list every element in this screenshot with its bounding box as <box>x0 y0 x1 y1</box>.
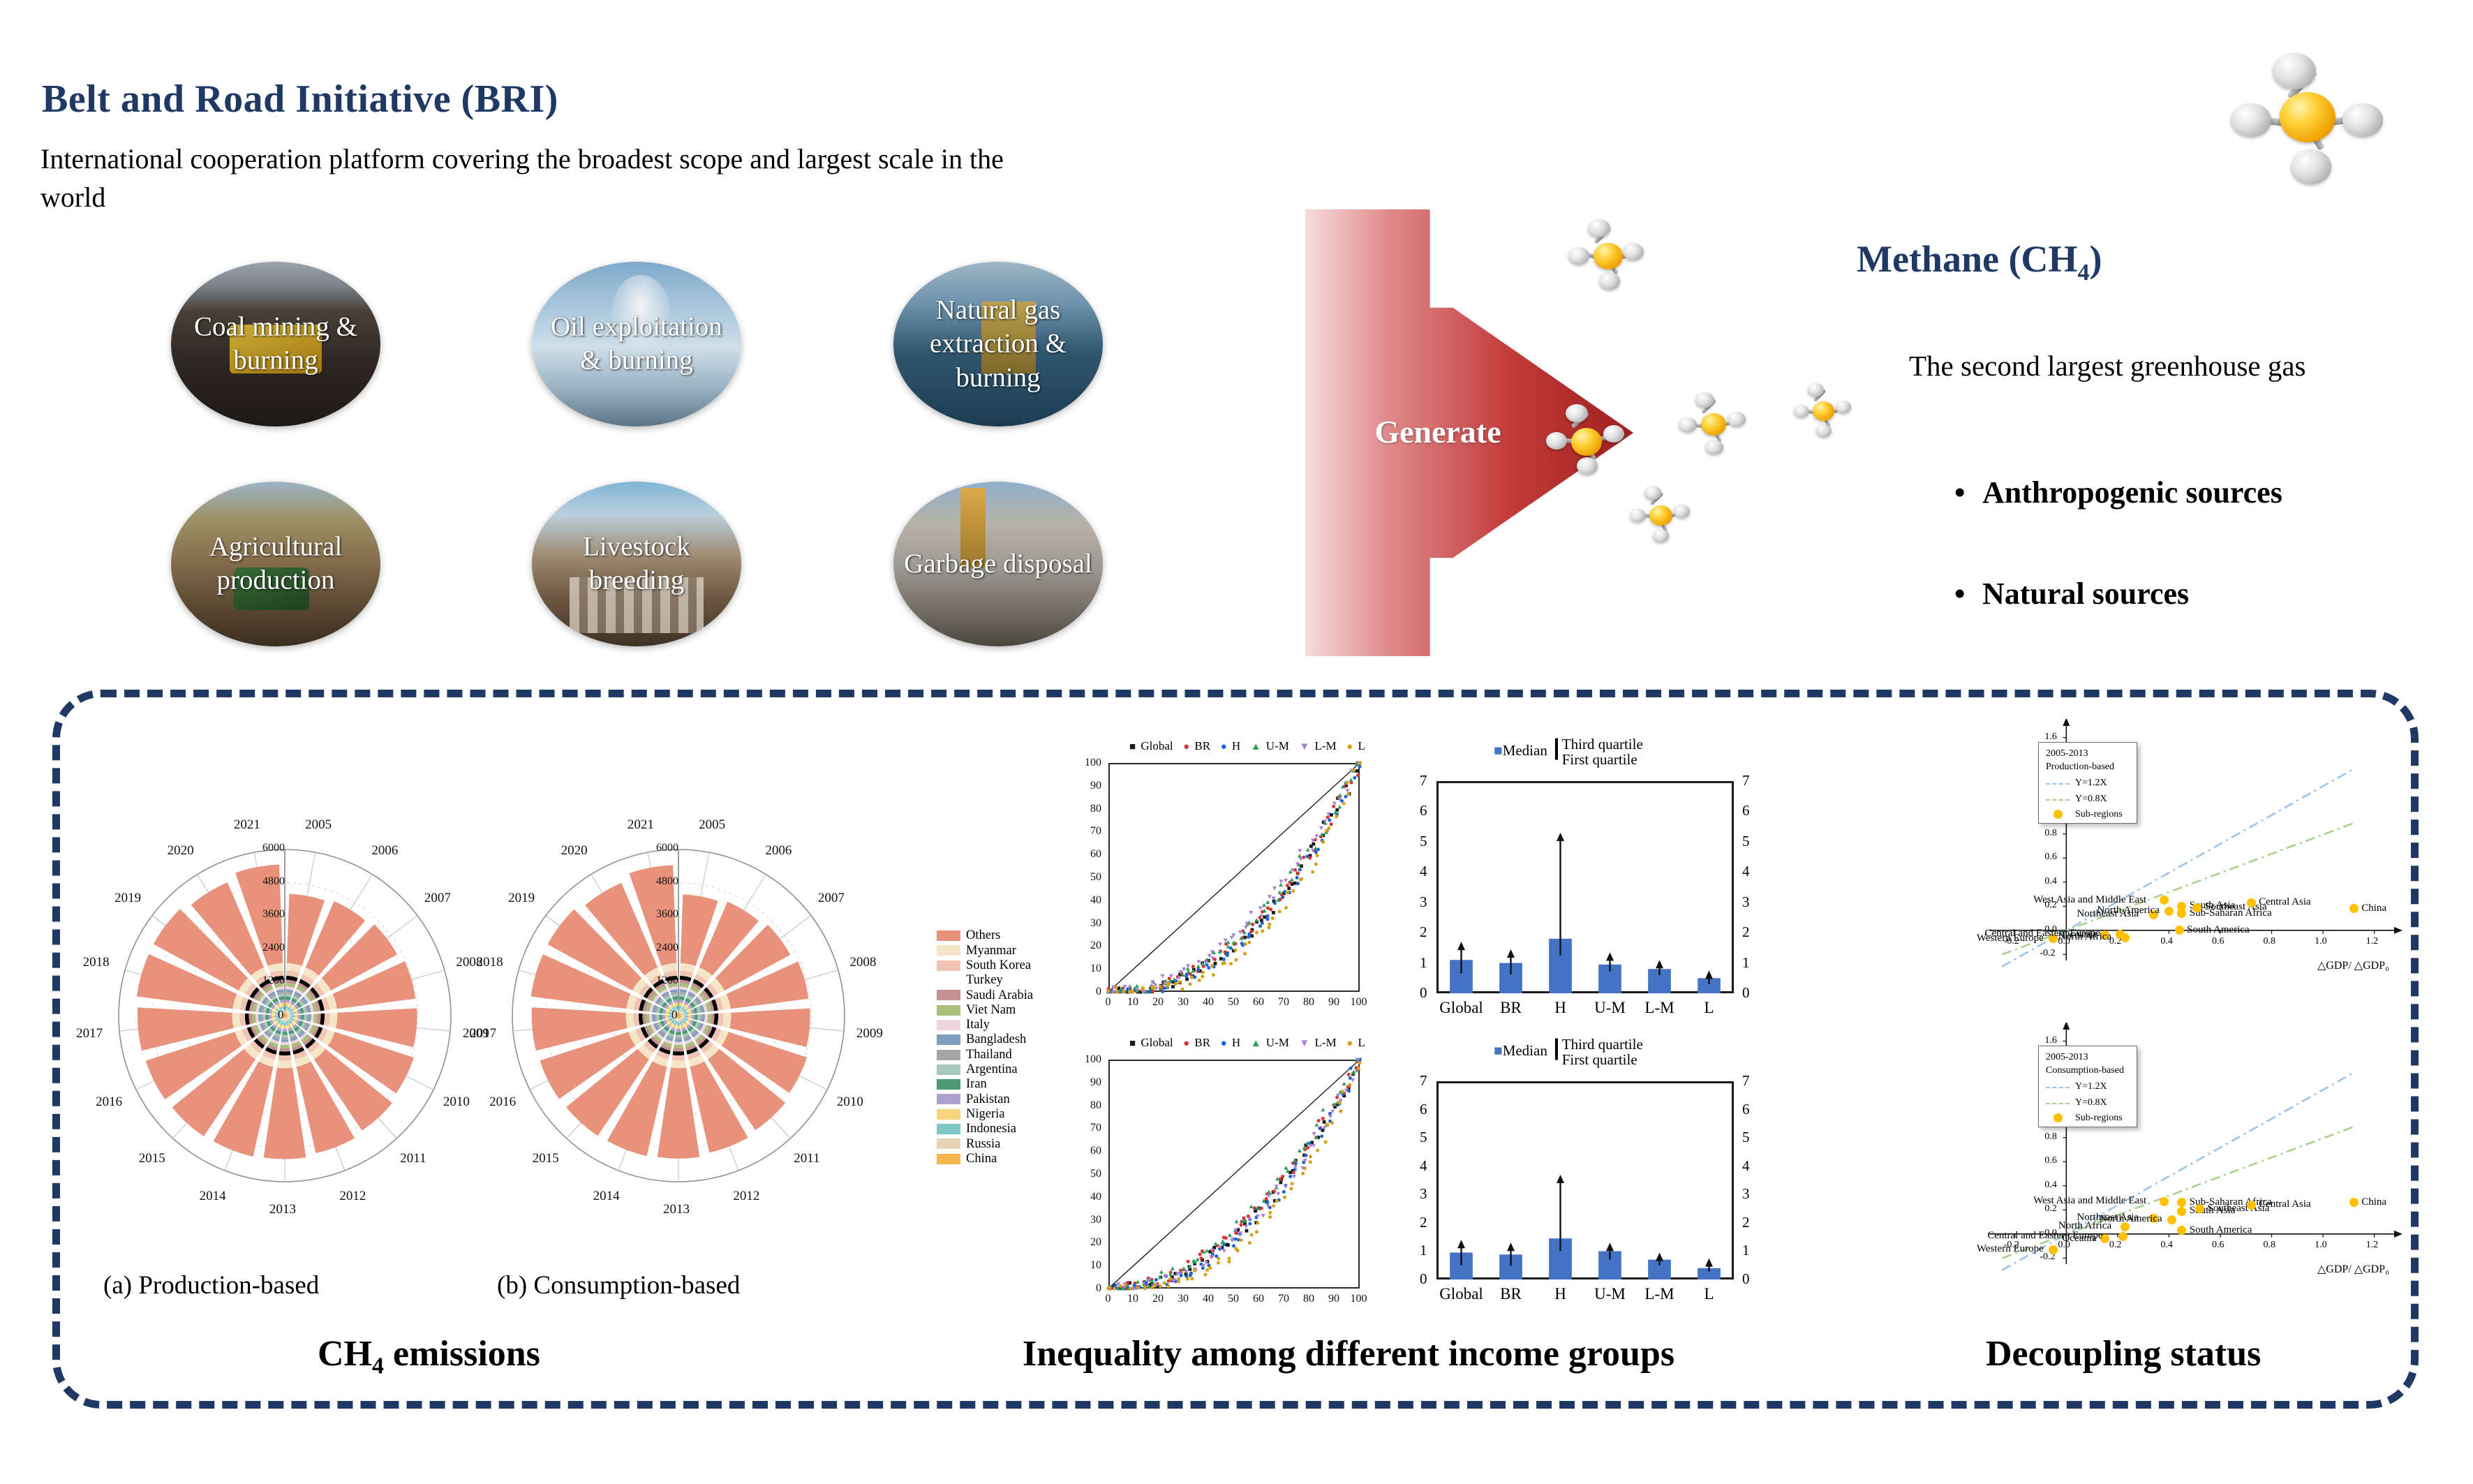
legend-item: Nigeria <box>937 1107 1083 1122</box>
y-tick-label: 0.4 <box>2044 876 2057 887</box>
category-label: Global <box>1436 1285 1486 1303</box>
legend-swatch <box>937 990 960 1000</box>
legend-swatch <box>937 1124 960 1134</box>
y-tick-label: 7 <box>1742 772 1750 789</box>
decoupling-legend: 2005-2013Consumption-basedY=1.2XY=0.8XSu… <box>2038 1046 2137 1127</box>
legend-label: Myanmar <box>966 944 1016 958</box>
legend-line-12x <box>2046 1087 2070 1088</box>
legend-swatch <box>937 1138 960 1149</box>
x-tick-label: 90 <box>1328 996 1339 1009</box>
x-tick-label: 30 <box>1178 996 1189 1009</box>
legend-swatch <box>937 945 960 956</box>
x-tick-label: 10 <box>1127 996 1138 1009</box>
legend-swatch <box>937 1050 960 1060</box>
x-tick-label: 0.6 <box>2212 1240 2225 1251</box>
year-label: 2020 <box>561 843 588 859</box>
scatter-point <box>2349 904 2359 913</box>
decoupling-scatter-production: -0.20.00.20.40.60.81.01.2-0.20.00.20.40.… <box>1913 719 2415 1012</box>
scatter-point-label: North America <box>2097 905 2160 917</box>
quartile-bar-chart-production: ■Median ┃Third quartileFirst quartile001… <box>1403 736 1766 1030</box>
legend-swatch <box>937 975 960 986</box>
y-tick-label: 0 <box>1096 1282 1101 1295</box>
year-label: 2015 <box>533 1151 559 1166</box>
methane-molecule-large <box>2227 49 2394 188</box>
year-label: 2019 <box>508 891 535 906</box>
legend-item: Bangladesh <box>937 1032 1083 1047</box>
radial-tick-label: 3600 <box>262 908 285 921</box>
legend-item: Saudi Arabia <box>937 988 1083 1002</box>
y-tick-label: -0.2 <box>2040 948 2055 959</box>
scatter-point <box>2177 1207 2186 1216</box>
legend-label-12x: Y=1.2X <box>2075 778 2107 789</box>
y-tick-label: 50 <box>1090 871 1101 884</box>
legend-label: Indonesia <box>966 1122 1016 1136</box>
year-label: 2012 <box>339 1189 366 1204</box>
radial-tick-label: 0 <box>278 1008 284 1022</box>
category-label: U-M <box>1585 1285 1635 1303</box>
legend-swatch <box>937 1094 960 1104</box>
category-label: L <box>1684 999 1734 1017</box>
legend-label: Italy <box>966 1018 990 1032</box>
legend-label: Russia <box>966 1138 1000 1151</box>
y-tick-label: 40 <box>1090 894 1101 907</box>
y-tick-label: 100 <box>1085 757 1101 769</box>
scatter-point-label: Western Europe <box>1977 1243 2044 1255</box>
y-tick-label: 70 <box>1090 1122 1101 1134</box>
x-tick-label: 70 <box>1278 1293 1289 1305</box>
legend-item: Italy <box>937 1018 1083 1032</box>
category-label: Global <box>1436 999 1486 1017</box>
legend-item: Myanmar <box>937 943 1083 958</box>
legend-label: Viet Nam <box>966 1004 1016 1017</box>
caption-decoupling: Decoupling status <box>1986 1333 2261 1374</box>
y-tick-label: 4 <box>1742 1157 1750 1175</box>
year-label: 2017 <box>470 1026 496 1041</box>
legend-swatch <box>937 1154 960 1164</box>
y-tick-label: 5 <box>1742 833 1750 850</box>
page-title: Belt and Road Initiative (BRI) <box>42 77 558 121</box>
year-label: 2015 <box>139 1151 165 1166</box>
year-label: 2005 <box>699 817 725 833</box>
scatter-point <box>2160 896 2169 905</box>
y-tick-label: 7 <box>1742 1072 1750 1090</box>
y-tick-label: 5 <box>1420 833 1427 850</box>
legend-item: Turkey <box>937 973 1083 988</box>
y-tick-label: 30 <box>1090 917 1101 930</box>
source-label: Oil exploitation & burning <box>532 311 741 378</box>
y-tick-label: 0 <box>1742 984 1750 1002</box>
x-tick-label: 100 <box>1351 1293 1367 1305</box>
y-tick-label: 60 <box>1090 848 1101 861</box>
x-tick-label: 1.0 <box>2315 1240 2327 1251</box>
year-label: 2007 <box>424 891 451 906</box>
year-label: 2019 <box>114 891 141 906</box>
scatter-point-label: Central Asia <box>2259 896 2311 908</box>
methane-title-main: Methane (CH <box>1857 238 2077 280</box>
bullet-label: Natural sources <box>1982 577 2189 611</box>
legend-label: Bangladesh <box>966 1033 1026 1046</box>
y-tick-label: 2 <box>1420 923 1427 941</box>
lorenz-curve-production: ■ Global ● BR ● H ▲ U-M ▼ L-M ● L 010203… <box>1075 736 1368 1016</box>
legend-swatch <box>937 1064 960 1075</box>
year-label: 2013 <box>663 1202 690 1217</box>
methane-bullet-natural: •Natural sources <box>1954 576 2189 611</box>
y-tick-label: 80 <box>1090 1099 1101 1112</box>
source-card-natural-gas: Natural gas extraction & burning <box>893 262 1103 426</box>
lorenz-curve-consumption: ■ Global ● BR ● H ▲ U-M ▼ L-M ● L 010203… <box>1075 1033 1368 1312</box>
legend-period: 2005-2013 <box>2046 748 2088 759</box>
legend-item: Russia <box>937 1136 1083 1151</box>
x-tick-label: 0.4 <box>2160 936 2173 947</box>
scatter-point-label: South America <box>2187 924 2250 936</box>
legend-label-08x: Y=0.8X <box>2075 1097 2107 1108</box>
y-tick-label: 4 <box>1742 863 1750 880</box>
scatter-point <box>2247 1201 2256 1210</box>
subcaption-production: (a) Production-based <box>103 1270 319 1300</box>
y-tick-label: 0.8 <box>2044 828 2057 839</box>
y-tick-label: 1 <box>1420 1242 1427 1259</box>
caption-ch4-emissions: CH4 emissions <box>318 1333 540 1379</box>
x-axis-label: △GDP/ △GDP₀ <box>2317 958 2389 972</box>
methane-molecule-2 <box>1546 401 1630 482</box>
scatter-point <box>2247 898 2256 907</box>
source-label: Coal mining & burning <box>171 311 380 378</box>
x-tick-label: 1.0 <box>2315 936 2327 947</box>
x-tick-label: 30 <box>1178 1293 1189 1305</box>
methane-molecule-4 <box>1794 383 1854 443</box>
legend-label-subregions: Sub-regions <box>2075 809 2123 820</box>
y-tick-label: 4 <box>1420 863 1427 880</box>
y-tick-label: 0.4 <box>2044 1180 2057 1191</box>
scatter-point <box>2160 1197 2169 1206</box>
legend-item: South Korea <box>937 958 1083 973</box>
y-tick-label: 1 <box>1420 954 1427 972</box>
year-label: 2013 <box>269 1202 296 1217</box>
year-label: 2007 <box>818 891 845 906</box>
y-tick-label: 70 <box>1090 825 1101 838</box>
legend-basis: Consumption-based <box>2046 1065 2124 1076</box>
legend-label: Thailand <box>966 1048 1012 1062</box>
y-tick-label: 0.6 <box>2044 852 2057 863</box>
legend-label: Nigeria <box>966 1108 1004 1121</box>
x-tick-label: 60 <box>1253 996 1264 1009</box>
year-label: 2005 <box>305 817 332 833</box>
x-tick-label: 0.4 <box>2160 1240 2173 1251</box>
scatter-point-label: West Asia and Middle East <box>2033 1195 2146 1207</box>
year-label: 2008 <box>849 955 876 970</box>
x-tick-label: 80 <box>1303 996 1314 1009</box>
scatter-point <box>2175 926 2184 935</box>
y-tick-label: 6 <box>1420 802 1427 819</box>
legend-label-12x: Y=1.2X <box>2075 1081 2107 1092</box>
x-tick-label: 50 <box>1228 996 1239 1009</box>
legend-item: Argentina <box>937 1062 1083 1077</box>
year-label: 2014 <box>200 1189 226 1204</box>
year-label: 2010 <box>443 1095 470 1110</box>
legend-item: Pakistan <box>937 1092 1083 1106</box>
x-tick-label: 0.6 <box>2212 936 2225 947</box>
source-label: Garbage disposal <box>893 547 1103 581</box>
legend-item: Viet Nam <box>937 1002 1083 1017</box>
legend-label: Argentina <box>966 1063 1018 1076</box>
y-tick-label: 2 <box>1742 923 1750 941</box>
year-label: 2016 <box>489 1095 516 1110</box>
category-label: L-M <box>1635 999 1684 1017</box>
category-label: L-M <box>1635 1285 1684 1303</box>
methane-description: The second largest greenhouse gas <box>1909 349 2306 383</box>
x-tick-label: 0.8 <box>2264 936 2276 947</box>
caption-subscript: 4 <box>372 1353 384 1379</box>
legend-swatch <box>937 1034 960 1045</box>
scatter-point-label: North Africa <box>2058 931 2111 943</box>
scatter-point-label: West Asia and Middle East <box>2033 894 2146 906</box>
year-label: 2010 <box>837 1095 863 1110</box>
methane-title: Methane (CH4) <box>1857 237 2102 286</box>
y-tick-label: 6 <box>1742 802 1750 819</box>
x-tick-label: 0 <box>1106 1293 1111 1305</box>
x-tick-label: 40 <box>1203 996 1214 1009</box>
caption-text: CH <box>318 1334 372 1374</box>
source-card-coal-mining: Coal mining & burning <box>171 262 380 426</box>
scatter-point <box>2167 1215 2176 1224</box>
source-label: Livestock breeding <box>532 530 741 598</box>
y-tick-label: 0 <box>1420 984 1427 1002</box>
scatter-point-label: China <box>2361 903 2386 914</box>
radial-tick-label: 6000 <box>656 842 678 854</box>
legend-item: Others <box>937 928 1083 943</box>
y-tick-label: 20 <box>1090 940 1101 952</box>
radial-tick-label: 2400 <box>656 942 678 954</box>
legend-swatch <box>937 1020 960 1030</box>
x-tick-label: 10 <box>1127 1293 1138 1305</box>
source-label: Agricultural production <box>171 530 380 598</box>
x-tick-label: 1.2 <box>2366 936 2379 947</box>
year-label: 2018 <box>477 955 503 970</box>
legend-label: Pakistan <box>966 1093 1010 1106</box>
y-tick-label: 40 <box>1090 1191 1101 1203</box>
scatter-point <box>2164 907 2174 916</box>
y-tick-label: 7 <box>1420 772 1427 789</box>
legend-label-08x: Y=0.8X <box>2075 794 2107 805</box>
legend-line-08x <box>2046 1103 2070 1104</box>
x-tick-label: 40 <box>1203 1293 1214 1305</box>
radial-tick-label: 1200 <box>262 974 285 987</box>
radial-tick-label: 2400 <box>262 942 285 954</box>
category-label: H <box>1536 1285 1585 1303</box>
y-tick-label: 5 <box>1742 1129 1750 1146</box>
methane-molecule-5 <box>1630 485 1693 548</box>
x-tick-label: 0 <box>1106 996 1111 1009</box>
legend-basis: Production-based <box>2046 762 2114 773</box>
polar-rose-chart-production: 0120024003600480060002005200620072008200… <box>75 806 494 1225</box>
decoupling-scatter-consumption: -0.20.00.20.40.60.81.01.2-0.20.00.20.40.… <box>1913 1023 2415 1316</box>
legend-line-08x <box>2046 799 2070 801</box>
generate-label: Generate <box>1319 413 1557 450</box>
legend-label: South Korea <box>966 959 1031 972</box>
source-card-agricultural-production: Agricultural production <box>171 482 380 646</box>
x-tick-label: 0.2 <box>2109 1240 2122 1251</box>
methane-molecule-3 <box>1679 391 1748 461</box>
legend-swatch <box>937 1109 960 1120</box>
y-tick-label: 20 <box>1090 1236 1101 1249</box>
y-tick-label: 3 <box>1742 893 1750 911</box>
year-label: 2006 <box>371 843 398 859</box>
category-label: L <box>1684 1285 1734 1303</box>
year-label: 2014 <box>593 1189 620 1204</box>
radial-tick-label: 0 <box>671 1008 678 1022</box>
legend-dot-subregions <box>2054 810 2063 819</box>
legend-swatch <box>937 1005 960 1016</box>
legend-swatch <box>937 930 960 941</box>
x-tick-label: 20 <box>1152 996 1164 1009</box>
y-tick-label: 5 <box>1420 1129 1427 1146</box>
year-label: 2011 <box>794 1151 819 1166</box>
y-tick-label: 0 <box>1420 1270 1427 1288</box>
category-label: BR <box>1486 1285 1536 1303</box>
y-tick-label: 0.6 <box>2044 1155 2057 1166</box>
quartile-bar-chart-consumption: ■Median ┃Third quartileFirst quartile001… <box>1403 1037 1766 1316</box>
x-tick-label: 90 <box>1328 1293 1339 1305</box>
year-label: 2021 <box>627 817 654 833</box>
y-tick-label: 30 <box>1090 1214 1101 1226</box>
legend-swatch <box>937 1079 960 1090</box>
x-tick-label: 70 <box>1278 996 1289 1009</box>
methane-title-end: ) <box>2089 238 2102 280</box>
year-label: 2017 <box>76 1026 103 1041</box>
radial-tick-label: 1200 <box>656 974 678 987</box>
legend-label: China <box>966 1152 997 1166</box>
y-tick-label: 50 <box>1090 1168 1101 1180</box>
page-subtitle: International cooperation platform cover… <box>40 140 1074 216</box>
decoupling-legend: 2005-2013Production-basedY=1.2XY=0.8XSub… <box>2038 742 2137 824</box>
y-tick-label: 80 <box>1090 803 1101 815</box>
y-tick-label: 1.6 <box>2044 1035 2057 1046</box>
year-label: 2018 <box>83 955 110 970</box>
year-label: 2009 <box>856 1026 883 1041</box>
y-tick-label: 60 <box>1090 1145 1101 1157</box>
legend-item: Thailand <box>937 1047 1083 1062</box>
source-label: Natural gas extraction & burning <box>893 293 1103 394</box>
y-tick-label: 6 <box>1742 1101 1750 1118</box>
scatter-point <box>2192 903 2201 912</box>
legend-label: Iran <box>966 1078 987 1091</box>
x-axis-label: △GDP/ △GDP₀ <box>2317 1262 2389 1276</box>
legend-item: Indonesia <box>937 1122 1083 1136</box>
y-tick-label: 3 <box>1420 893 1427 911</box>
bullet-label: Anthropogenic sources <box>1982 475 2282 510</box>
y-tick-label: 2 <box>1742 1214 1750 1231</box>
category-label: U-M <box>1585 999 1635 1017</box>
legend-item: China <box>937 1151 1083 1166</box>
y-tick-label: 10 <box>1090 963 1101 975</box>
y-tick-label: 3 <box>1420 1185 1427 1203</box>
legend-label: Turkey <box>966 974 1003 987</box>
bullet-glyph: • <box>1954 576 1982 611</box>
y-tick-label: 3 <box>1742 1185 1750 1203</box>
scatter-point-label: Central Asia <box>2259 1199 2311 1210</box>
source-card-garbage-disposal: Garbage disposal <box>893 482 1103 646</box>
y-tick-label: 6 <box>1420 1101 1427 1118</box>
rose-chart-legend: OthersMyanmarSouth KoreaTurkeySaudi Arab… <box>937 928 1083 1166</box>
y-tick-label: 90 <box>1090 780 1101 792</box>
y-tick-label: 2 <box>1420 1214 1427 1231</box>
x-tick-label: 60 <box>1253 1293 1264 1305</box>
radial-tick-label: 6000 <box>262 842 285 854</box>
y-tick-label: 7 <box>1420 1072 1427 1090</box>
methane-molecule-1 <box>1567 218 1651 295</box>
legend-label: Saudi Arabia <box>966 989 1033 1002</box>
legend-swatch <box>937 960 960 971</box>
scatter-point-label: South America <box>2190 1224 2252 1236</box>
polar-rose-chart-consumption: 0120024003600480060002005200620072008200… <box>469 806 888 1225</box>
legend-label: Others <box>966 929 1000 942</box>
bullet-glyph: • <box>1954 475 1982 510</box>
y-tick-label: 90 <box>1090 1076 1101 1089</box>
scatter-point-label: North America <box>2100 1213 2162 1225</box>
year-label: 2020 <box>168 843 194 859</box>
y-tick-label: 4 <box>1420 1157 1427 1175</box>
legend-dot-subregions <box>2054 1113 2063 1122</box>
x-tick-label: 100 <box>1351 996 1367 1009</box>
x-tick-label: 1.2 <box>2366 1240 2379 1251</box>
y-tick-label: 0.8 <box>2044 1131 2057 1143</box>
x-tick-label: 80 <box>1303 1293 1314 1305</box>
year-label: 2016 <box>96 1095 122 1110</box>
y-tick-label: 1 <box>1742 1242 1750 1259</box>
category-label: H <box>1536 999 1585 1017</box>
legend-item: Iran <box>937 1077 1083 1092</box>
year-label: 2021 <box>234 817 260 833</box>
radial-tick-label: 3600 <box>656 908 678 921</box>
y-tick-label: 0 <box>1096 986 1101 998</box>
x-tick-label: 0.8 <box>2264 1240 2276 1251</box>
y-tick-label: 10 <box>1090 1259 1101 1272</box>
year-label: 2012 <box>733 1189 759 1204</box>
y-tick-label: 1.6 <box>2044 732 2057 743</box>
legend-label-subregions: Sub-regions <box>2075 1113 2123 1124</box>
caption-inequality: Inequality among different income groups <box>1023 1333 1674 1374</box>
year-label: 2011 <box>400 1151 426 1166</box>
scatter-point-label: China <box>2361 1196 2386 1208</box>
caption-text-end: emissions <box>384 1334 540 1374</box>
source-card-oil-exploitation: Oil exploitation & burning <box>532 262 741 426</box>
methane-bullet-anthropogenic: •Anthropogenic sources <box>1954 475 2282 510</box>
subcaption-consumption: (b) Consumption-based <box>497 1270 740 1300</box>
y-tick-label: 1 <box>1742 954 1750 972</box>
y-tick-label: 0 <box>1742 1270 1750 1288</box>
radial-tick-label: 4800 <box>656 875 678 888</box>
source-card-livestock-breeding: Livestock breeding <box>532 482 741 646</box>
x-tick-label: 50 <box>1228 1293 1239 1305</box>
x-tick-label: 20 <box>1152 1293 1164 1305</box>
legend-period: 2005-2013 <box>2046 1052 2088 1063</box>
radial-tick-label: 4800 <box>262 875 285 888</box>
methane-title-subscript: 4 <box>2077 260 2089 285</box>
y-tick-label: 100 <box>1085 1053 1101 1066</box>
year-label: 2006 <box>765 843 792 859</box>
scatter-point-label: Southeast Asia <box>2205 901 2267 913</box>
category-label: BR <box>1486 999 1536 1017</box>
legend-line-12x <box>2046 783 2070 785</box>
scatter-point <box>2118 1232 2127 1241</box>
